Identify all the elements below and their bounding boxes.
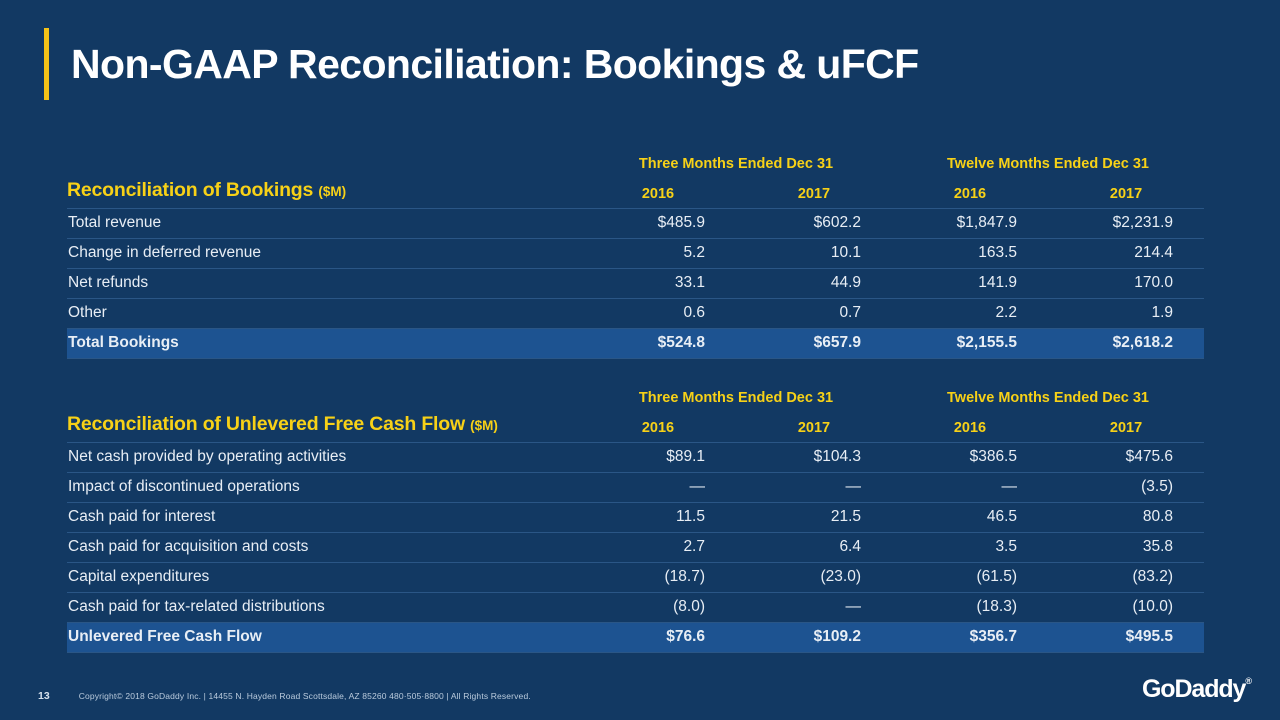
row-value: 33.1 [580, 269, 736, 299]
row-value: $104.3 [736, 443, 892, 473]
row-value: 44.9 [736, 269, 892, 299]
table-row: Cash paid for tax-related distributions … [67, 593, 1204, 623]
row-value: 5.2 [580, 239, 736, 269]
page-title: Non-GAAP Reconciliation: Bookings & uFCF [71, 28, 919, 100]
row-value: $1,847.9 [892, 209, 1048, 239]
row-value: 0.7 [736, 299, 892, 329]
row-value: 21.5 [736, 503, 892, 533]
spacer-cell [67, 390, 580, 413]
ufcf-group-header-twelve-months: Twelve Months Ended Dec 31 [892, 390, 1204, 413]
total-label: Total Bookings [67, 329, 580, 359]
title-accent-bar [44, 28, 49, 100]
row-label: Cash paid for tax-related distributions [67, 593, 580, 623]
ufcf-group-header-row: Three Months Ended Dec 31 Twelve Months … [67, 390, 1204, 413]
total-label: Unlevered Free Cash Flow [67, 623, 580, 653]
row-value: (23.0) [736, 563, 892, 593]
row-value: — [892, 473, 1048, 503]
bookings-section-title-text: Reconciliation of Bookings [67, 179, 313, 201]
row-value: (18.7) [580, 563, 736, 593]
ufcf-year-y-2016: 2016 [892, 413, 1048, 443]
bookings-group-header-three-months: Three Months Ended Dec 31 [580, 156, 892, 179]
row-value: 35.8 [1048, 533, 1204, 563]
ufcf-year-q-2016: 2016 [580, 413, 736, 443]
table-bottom-rule [67, 652, 1204, 653]
table-row: Cash paid for acquisition and costs 2.7 … [67, 533, 1204, 563]
table-row: Total revenue $485.9 $602.2 $1,847.9 $2,… [67, 209, 1204, 239]
row-value: (3.5) [1048, 473, 1204, 503]
row-label: Capital expenditures [67, 563, 580, 593]
row-value: 46.5 [892, 503, 1048, 533]
table-bottom-rule [67, 358, 1204, 359]
total-value: $109.2 [736, 623, 892, 653]
bookings-year-q-2016: 2016 [580, 179, 736, 209]
slide-footer: 13 Copyright© 2018 GoDaddy Inc. | 14455 … [38, 690, 531, 702]
bookings-year-q-2017: 2017 [736, 179, 892, 209]
slide-header: Non-GAAP Reconciliation: Bookings & uFCF [44, 28, 919, 100]
row-value: 11.5 [580, 503, 736, 533]
row-value: (8.0) [580, 593, 736, 623]
row-value: — [580, 473, 736, 503]
row-value: 6.4 [736, 533, 892, 563]
row-value: 170.0 [1048, 269, 1204, 299]
row-value: 1.9 [1048, 299, 1204, 329]
row-label: Impact of discontinued operations [67, 473, 580, 503]
row-value: $485.9 [580, 209, 736, 239]
copyright-text: Copyright© 2018 GoDaddy Inc. | 14455 N. … [79, 691, 531, 701]
row-label: Cash paid for interest [67, 503, 580, 533]
ufcf-year-y-2017: 2017 [1048, 413, 1204, 443]
row-value: (10.0) [1048, 593, 1204, 623]
ufcf-section-title-text: Reconciliation of Unlevered Free Cash Fl… [67, 413, 465, 435]
bookings-unit-label: ($M) [318, 184, 346, 199]
row-value: $602.2 [736, 209, 892, 239]
bookings-group-header-row: Three Months Ended Dec 31 Twelve Months … [67, 156, 1204, 179]
row-value: — [736, 473, 892, 503]
row-value: (61.5) [892, 563, 1048, 593]
bookings-group-header-twelve-months: Twelve Months Ended Dec 31 [892, 156, 1204, 179]
row-value: $2,231.9 [1048, 209, 1204, 239]
total-value: $356.7 [892, 623, 1048, 653]
table-row: Net refunds 33.1 44.9 141.9 170.0 [67, 269, 1204, 299]
ufcf-reconciliation-table: Three Months Ended Dec 31 Twelve Months … [67, 390, 1204, 653]
row-label: Cash paid for acquisition and costs [67, 533, 580, 563]
row-value: — [736, 593, 892, 623]
row-value: 3.5 [892, 533, 1048, 563]
bookings-year-y-2017: 2017 [1048, 179, 1204, 209]
row-label: Net refunds [67, 269, 580, 299]
row-label: Other [67, 299, 580, 329]
page-number: 13 [38, 690, 50, 702]
total-value: $76.6 [580, 623, 736, 653]
total-value: $2,155.5 [892, 329, 1048, 359]
row-value: (83.2) [1048, 563, 1204, 593]
table-row: Capital expenditures (18.7) (23.0) (61.5… [67, 563, 1204, 593]
total-value: $524.8 [580, 329, 736, 359]
row-label: Change in deferred revenue [67, 239, 580, 269]
bookings-year-header-row: Reconciliation of Bookings ($M) 2016 201… [67, 179, 1204, 209]
table-row: Cash paid for interest 11.5 21.5 46.5 80… [67, 503, 1204, 533]
row-value: (18.3) [892, 593, 1048, 623]
ufcf-year-header-row: Reconciliation of Unlevered Free Cash Fl… [67, 413, 1204, 443]
bookings-total-row: Total Bookings $524.8 $657.9 $2,155.5 $2… [67, 329, 1204, 359]
table-row: Change in deferred revenue 5.2 10.1 163.… [67, 239, 1204, 269]
godaddy-logo: GoDaddy® [1142, 677, 1252, 702]
total-value: $495.5 [1048, 623, 1204, 653]
ufcf-unit-label: ($M) [470, 418, 498, 433]
row-value: 0.6 [580, 299, 736, 329]
row-label: Total revenue [67, 209, 580, 239]
row-value: 141.9 [892, 269, 1048, 299]
row-value: $386.5 [892, 443, 1048, 473]
ufcf-year-q-2017: 2017 [736, 413, 892, 443]
bookings-section-title: Reconciliation of Bookings ($M) [67, 179, 580, 209]
row-value: 2.7 [580, 533, 736, 563]
row-value: 214.4 [1048, 239, 1204, 269]
ufcf-total-row: Unlevered Free Cash Flow $76.6 $109.2 $3… [67, 623, 1204, 653]
ufcf-group-header-three-months: Three Months Ended Dec 31 [580, 390, 892, 413]
spacer-cell [67, 156, 580, 179]
table-row: Other 0.6 0.7 2.2 1.9 [67, 299, 1204, 329]
row-value: 80.8 [1048, 503, 1204, 533]
row-value: 10.1 [736, 239, 892, 269]
row-value: $475.6 [1048, 443, 1204, 473]
table-row: Net cash provided by operating activitie… [67, 443, 1204, 473]
row-value: $89.1 [580, 443, 736, 473]
total-value: $657.9 [736, 329, 892, 359]
bookings-year-y-2016: 2016 [892, 179, 1048, 209]
ufcf-section-title: Reconciliation of Unlevered Free Cash Fl… [67, 413, 580, 443]
bookings-reconciliation-table: Three Months Ended Dec 31 Twelve Months … [67, 156, 1204, 359]
row-value: 163.5 [892, 239, 1048, 269]
row-label: Net cash provided by operating activitie… [67, 443, 580, 473]
godaddy-logo-text: GoDaddy [1142, 675, 1245, 703]
trademark-mark: ® [1245, 676, 1252, 686]
total-value: $2,618.2 [1048, 329, 1204, 359]
table-row: Impact of discontinued operations — — — … [67, 473, 1204, 503]
row-value: 2.2 [892, 299, 1048, 329]
